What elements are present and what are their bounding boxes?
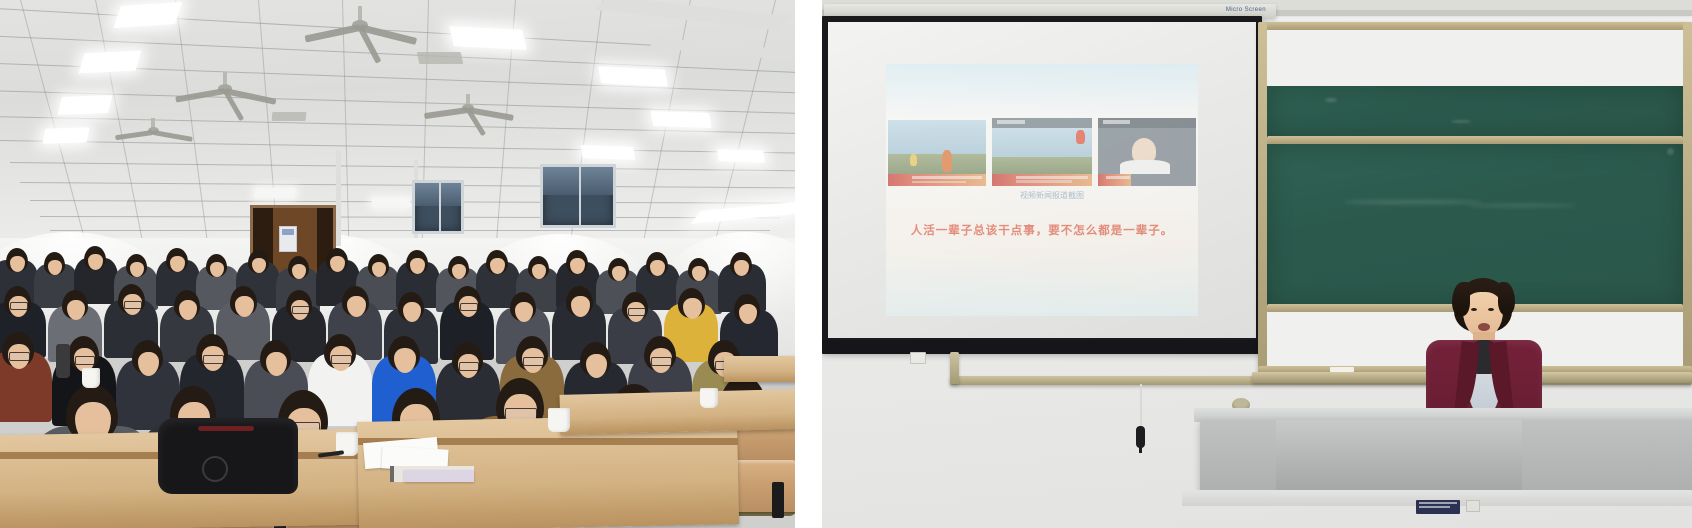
lectern-switch-plate[interactable] [1466, 500, 1480, 512]
presentation-slide: 视频新闻报道截图 人活一辈子总该干点事，要不怎么都是一辈子。 [886, 64, 1198, 316]
ceiling-vent [417, 52, 464, 64]
blackboard-panel-upper[interactable] [1267, 86, 1683, 140]
ceiling-fan [108, 118, 198, 162]
ceiling-fan [418, 94, 518, 144]
lectern-name-plate [1416, 500, 1460, 514]
slide-thumbnail-interview [1098, 118, 1196, 186]
projector-screen-weight-bar [822, 340, 1262, 354]
chalk-piece[interactable] [1330, 367, 1354, 372]
screen-brand-label: Micro Screen [1226, 7, 1266, 13]
student-desk [724, 356, 795, 382]
screen-pull-cord-tip [1139, 446, 1142, 453]
water-bottle[interactable] [56, 344, 70, 378]
papers-on-desk[interactable] [404, 470, 474, 482]
slide-thumbnail-river-valley [992, 118, 1092, 186]
ceiling-light-panel [79, 51, 142, 74]
ceiling-light-panel [372, 198, 411, 207]
slide-quote-text: 人活一辈子总该干点事，要不怎么都是一辈子。 [880, 222, 1204, 238]
paper-cup[interactable] [700, 388, 718, 408]
ceiling-duct [649, 37, 795, 60]
ceiling-light-panel [581, 145, 635, 160]
slide-subcaption: 视频新闻报道截图 [982, 190, 1122, 201]
screen-pull-cord[interactable] [1140, 384, 1142, 428]
lectern-right-panel [1522, 420, 1692, 492]
ceiling [0, 0, 795, 262]
wall-outlet[interactable] [910, 352, 926, 364]
ceiling-light-panel [114, 2, 183, 28]
lectern-left-panel [1200, 420, 1276, 492]
projector-screen-surface[interactable]: 视频新闻报道截图 人活一辈子总该干点事，要不怎么都是一辈子。 [828, 22, 1256, 338]
ceiling-light-panel [449, 26, 527, 50]
photo-divider [795, 0, 822, 528]
ceiling-fan [300, 6, 420, 66]
photo-pair-canvas: Micro Screen [0, 0, 1692, 528]
ceiling-light-panel [598, 66, 668, 86]
paper-cup[interactable] [82, 368, 100, 388]
ceiling-light-panel [42, 127, 89, 144]
lecture-hall-audience-photo [0, 0, 795, 528]
chalk-rail-bracket [950, 352, 959, 384]
hall-window [540, 164, 616, 228]
slide-thumbnail-grassland [888, 120, 986, 186]
hall-window [412, 180, 464, 234]
ceiling-duct [595, 0, 790, 30]
wall-conduit [336, 150, 341, 246]
screen-pull-cord-weight[interactable] [1136, 426, 1145, 448]
lecturer-at-podium-photo: Micro Screen [822, 0, 1692, 528]
ceiling-light-panel [58, 95, 113, 115]
paper-cup[interactable] [548, 408, 570, 432]
student-desk [560, 389, 795, 435]
ceiling-light-panel [691, 201, 795, 224]
presenter-mouth [1478, 323, 1490, 331]
ceiling-light-panel [650, 111, 711, 128]
ceiling-light-panel [254, 188, 295, 198]
backpack-on-desk[interactable] [158, 418, 298, 494]
ceiling-light-panel [717, 149, 765, 163]
